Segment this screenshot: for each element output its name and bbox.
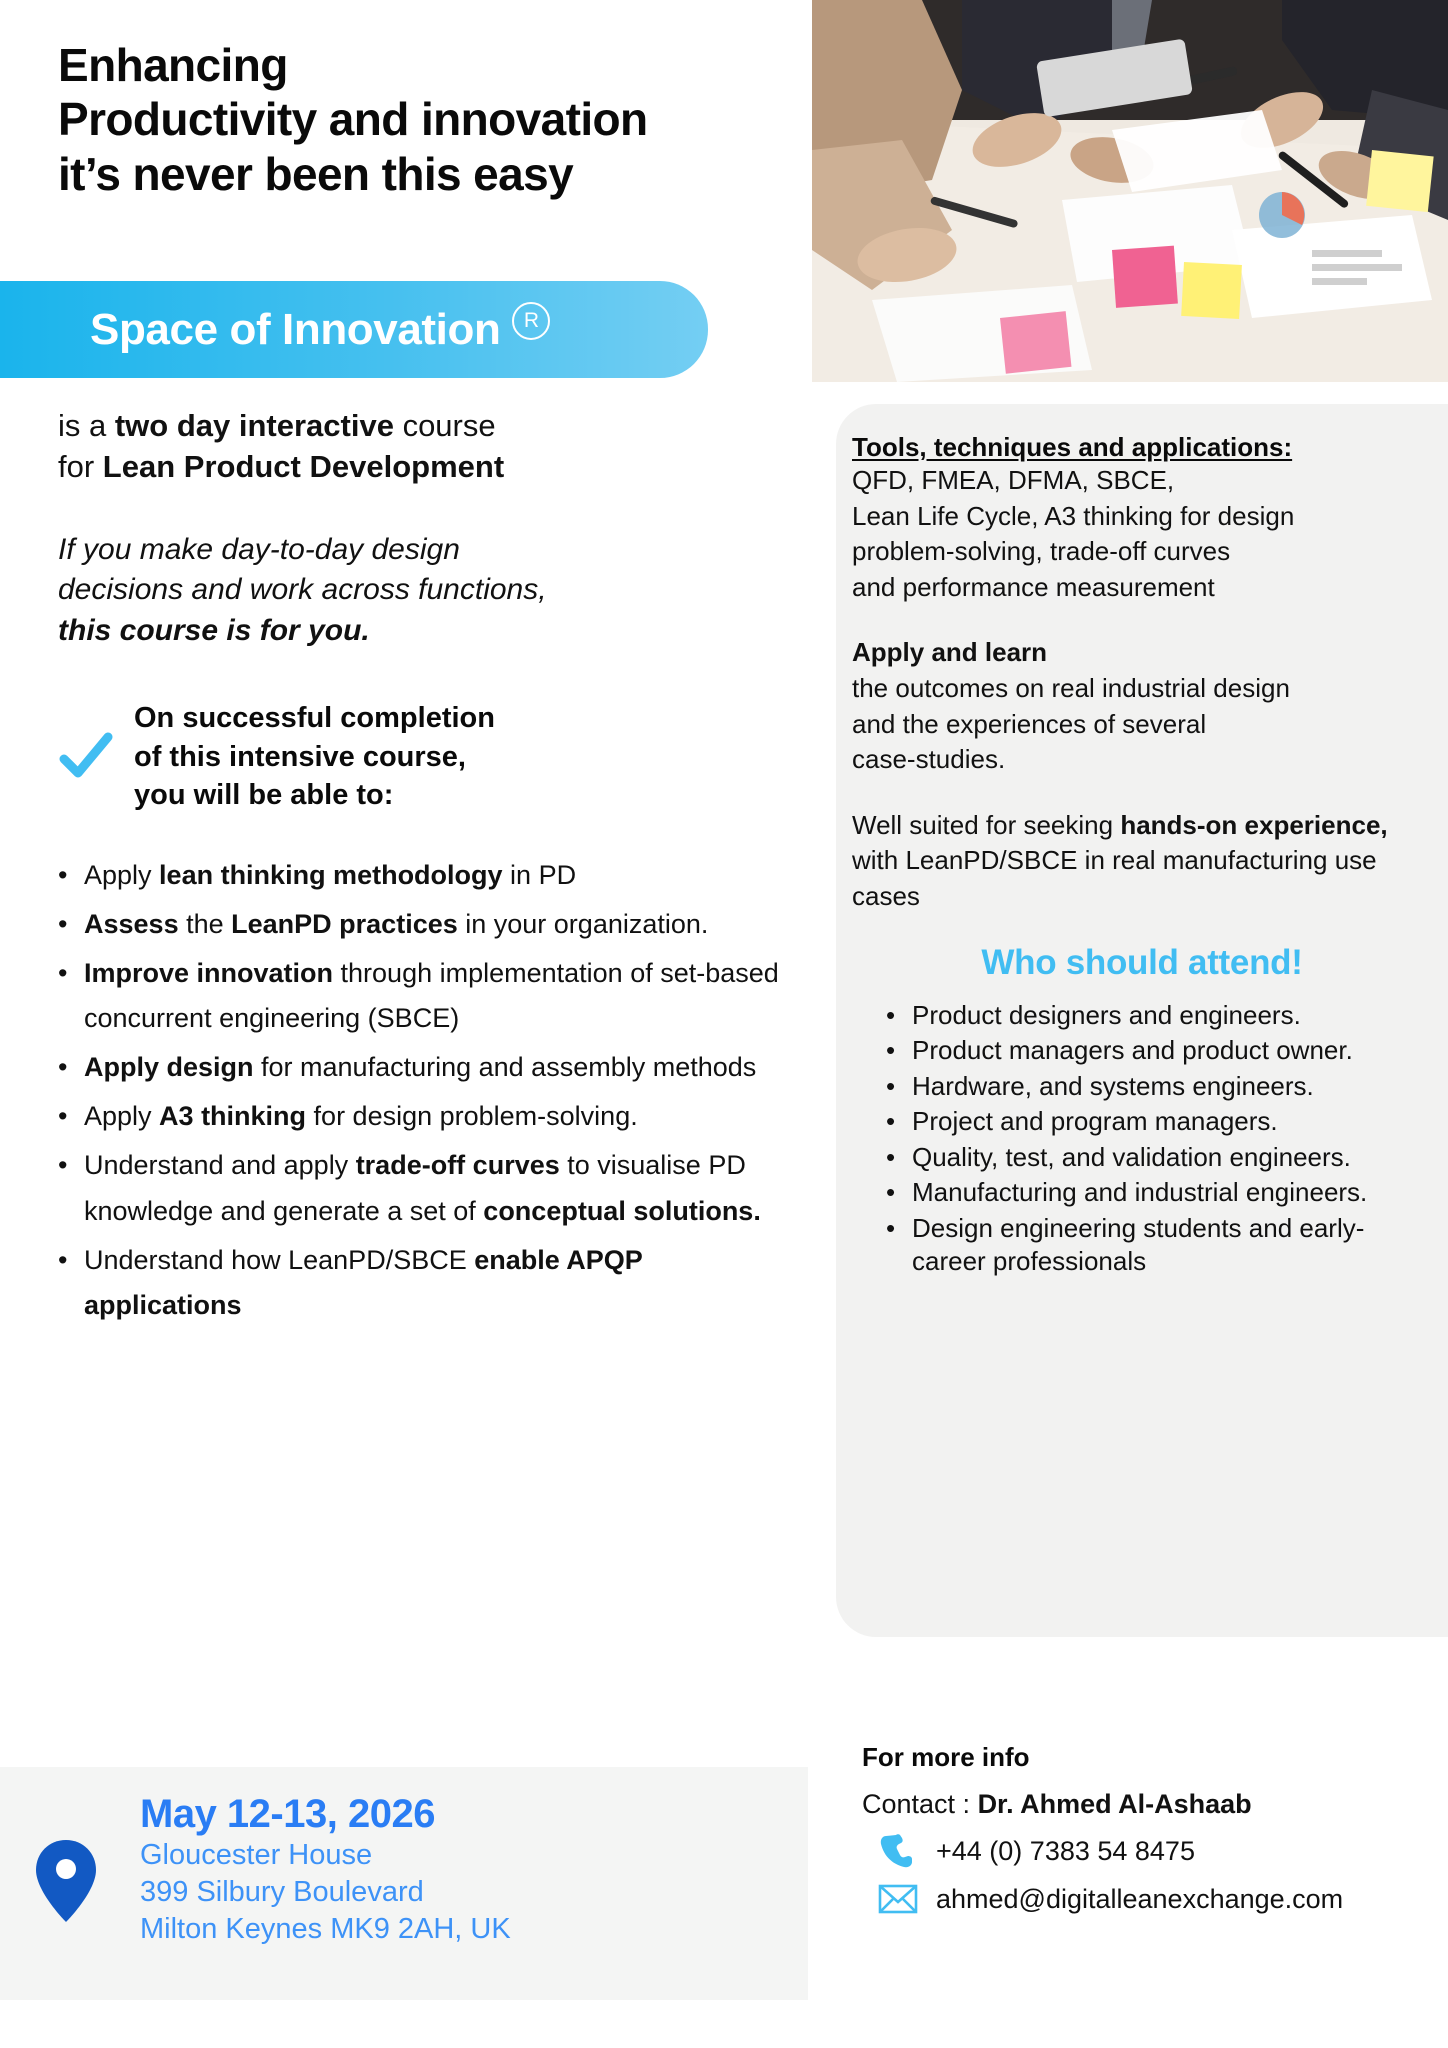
- list-item: Product managers and product owner.: [886, 1034, 1432, 1068]
- phone-number: +44 (0) 7383 54 8475: [936, 1836, 1195, 1867]
- envelope-icon: [878, 1882, 918, 1916]
- tools-line-2: problem-solving, trade-off curves: [852, 534, 1432, 570]
- brand-name: Space of Innovation: [90, 305, 500, 355]
- apply-heading: Apply and learn: [852, 637, 1047, 667]
- registered-trademark-icon: R: [512, 302, 550, 340]
- outcome-5-bold2: conceptual solutions.: [483, 1196, 761, 1226]
- outcome-1-bold: Assess: [84, 909, 179, 939]
- outcome-2-bold: Improve innovation: [84, 958, 333, 988]
- list-item: Product designers and engineers.: [886, 999, 1432, 1033]
- headline-line-2: Productivity and innovation: [58, 92, 848, 146]
- outcome-4-pre: Apply: [84, 1101, 159, 1131]
- hero-photo: [812, 0, 1448, 382]
- tools-line-3: and performance measurement: [852, 570, 1432, 606]
- completion-line-1: On successful completion: [134, 699, 495, 738]
- brand-banner: Space of Innovation R: [0, 281, 708, 378]
- list-item: Apply design for manufacturing and assem…: [58, 1045, 798, 1090]
- completion-line-2: of this intensive course,: [134, 738, 495, 777]
- course-date: May 12-13, 2026: [140, 1792, 780, 1837]
- email-address: ahmed@digitalleanexchange.com: [936, 1884, 1343, 1915]
- tools-heading: Tools, techniques and applications:: [852, 432, 1432, 463]
- completion-block: On successful completion of this intensi…: [58, 699, 798, 815]
- check-icon: [58, 729, 114, 785]
- outcome-1-bold2: LeanPD practices: [231, 909, 458, 939]
- well-suited-pre: Well suited for seeking: [852, 810, 1120, 840]
- apply-and-learn-block: Apply and learn the outcomes on real ind…: [852, 635, 1432, 777]
- list-item: Understand and apply trade-off curves to…: [58, 1143, 798, 1233]
- venue-line-2: 399 Silbury Boulevard: [140, 1874, 780, 1911]
- contact-name-value: Dr. Ahmed Al-Ashaab: [978, 1789, 1252, 1819]
- map-pin-icon: [36, 1840, 96, 1922]
- audience-line-3: this course is for you.: [58, 611, 798, 652]
- email-row[interactable]: ahmed@digitalleanexchange.com: [862, 1882, 1442, 1916]
- outcomes-list: Apply lean thinking methodology in PD As…: [58, 853, 798, 1328]
- outcome-0-bold: lean thinking methodology: [159, 860, 503, 890]
- audience-line-2: decisions and work across functions,: [58, 570, 798, 611]
- intro-line2-pre: for: [58, 449, 103, 484]
- completion-text: On successful completion of this intensi…: [134, 699, 495, 815]
- outcome-0-pre: Apply: [84, 860, 159, 890]
- well-suited-bold: hands-on experience,: [1120, 810, 1387, 840]
- outcome-4-bold: A3 thinking: [159, 1101, 306, 1131]
- completion-line-3: you will be able to:: [134, 776, 495, 815]
- apply-line-0: the outcomes on real industrial design: [852, 671, 1432, 707]
- left-column: is a two day interactive course for Lean…: [58, 406, 798, 1332]
- venue-details: May 12-13, 2026 Gloucester House 399 Sil…: [140, 1792, 780, 1947]
- well-suited-block: Well suited for seeking hands-on experie…: [852, 808, 1432, 915]
- list-item: Apply A3 thinking for design problem-sol…: [58, 1094, 798, 1139]
- outcome-3-bold: Apply design: [84, 1052, 254, 1082]
- outcome-4-post: for design problem-solving.: [306, 1101, 638, 1131]
- intro-line1-post: course: [394, 408, 496, 443]
- list-item: Quality, test, and validation engineers.: [886, 1141, 1432, 1175]
- phone-icon: [878, 1834, 918, 1868]
- outcome-5-pre: Understand and apply: [84, 1150, 356, 1180]
- list-item: Improve innovation through implementatio…: [58, 951, 798, 1041]
- audience-line-1: If you make day-to-day design: [58, 530, 798, 571]
- outcome-3-post: for manufacturing and assembly methods: [254, 1052, 757, 1082]
- venue-line-3: Milton Keynes MK9 2AH, UK: [140, 1911, 780, 1948]
- intro-line1-pre: is a: [58, 408, 115, 443]
- who-should-attend-heading: Who should attend!: [852, 943, 1432, 983]
- headline-line-1: Enhancing: [58, 38, 848, 92]
- flyer-page: Enhancing Productivity and innovation it…: [0, 0, 1448, 2048]
- page-title: Enhancing Productivity and innovation it…: [58, 38, 848, 201]
- tools-line-1: Lean Life Cycle, A3 thinking for design: [852, 499, 1432, 535]
- intro-line1-bold: two day interactive: [115, 408, 394, 443]
- outcome-1-post: in your organization.: [458, 909, 709, 939]
- list-item: Manufacturing and industrial engineers.: [886, 1176, 1432, 1210]
- right-column: Tools, techniques and applications: QFD,…: [852, 432, 1432, 1281]
- list-item: Understand how LeanPD/SBCE enable APQP a…: [58, 1238, 798, 1328]
- outcome-0-post: in PD: [503, 860, 577, 890]
- apply-line-1: and the experiences of several: [852, 707, 1432, 743]
- contact-heading: For more info: [862, 1742, 1442, 1773]
- list-item: Apply lean thinking methodology in PD: [58, 853, 798, 898]
- apply-line-2: case-studies.: [852, 742, 1432, 778]
- venue-line-1: Gloucester House: [140, 1837, 780, 1874]
- phone-row[interactable]: +44 (0) 7383 54 8475: [862, 1834, 1442, 1868]
- list-item: Hardware, and systems engineers.: [886, 1070, 1432, 1104]
- list-item: Design engineering students and early-ca…: [886, 1212, 1432, 1279]
- outcome-6-pre: Understand how LeanPD/SBCE: [84, 1245, 474, 1275]
- outcome-1-mid: the: [179, 909, 232, 939]
- audience-statement: If you make day-to-day design decisions …: [58, 530, 798, 652]
- attendees-list: Product designers and engineers. Product…: [852, 999, 1432, 1279]
- well-suited-post: with LeanPD/SBCE in real manufacturing u…: [852, 845, 1377, 911]
- contact-person: Contact : Dr. Ahmed Al-Ashaab: [862, 1789, 1442, 1820]
- contact-block: For more info Contact : Dr. Ahmed Al-Ash…: [862, 1742, 1442, 1916]
- tools-line-0: QFD, FMEA, DFMA, SBCE,: [852, 463, 1432, 499]
- tools-body: QFD, FMEA, DFMA, SBCE, Lean Life Cycle, …: [852, 463, 1432, 605]
- intro-line2-bold: Lean Product Development: [103, 449, 504, 484]
- list-item: Assess the LeanPD practices in your orga…: [58, 902, 798, 947]
- list-item: Project and program managers.: [886, 1105, 1432, 1139]
- outcome-5-bold: trade-off curves: [356, 1150, 560, 1180]
- headline-line-3: it’s never been this easy: [58, 147, 848, 201]
- course-intro: is a two day interactive course for Lean…: [58, 406, 798, 488]
- contact-label: Contact :: [862, 1789, 978, 1819]
